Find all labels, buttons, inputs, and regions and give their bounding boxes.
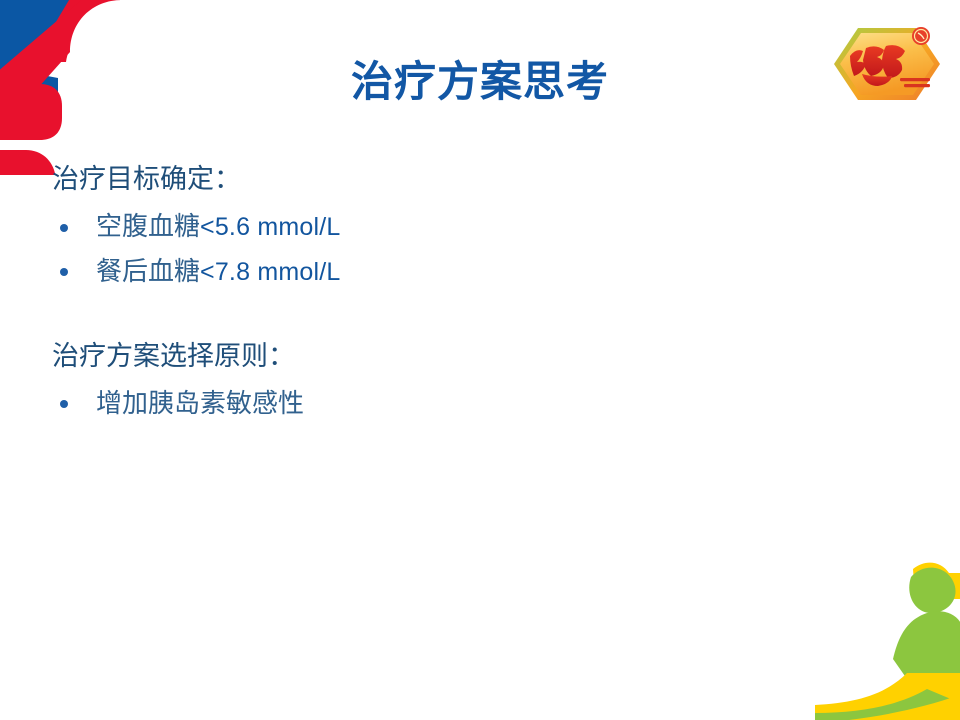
list-item-latin-text: <5.6 mmol/L	[200, 213, 340, 241]
bullet-dot-icon	[60, 400, 68, 408]
list-item: 餐后血糖<7.8 mmol/L	[52, 250, 752, 295]
bullet-dot-icon	[60, 224, 68, 232]
bullet-dot-icon	[60, 268, 68, 276]
section-treatment-goals: 治疗目标确定： 空腹血糖<5.6 mmol/L 餐后血糖<7.8 mmol/L	[52, 160, 752, 295]
section-heading: 治疗方案选择原则：	[52, 337, 752, 376]
list-item: 增加胰岛素敏感性	[52, 382, 752, 427]
list-item-cjk-text: 餐后血糖	[96, 257, 200, 287]
list-item-latin-text: <7.8 mmol/L	[200, 258, 340, 286]
section-spacer	[52, 295, 752, 337]
section-heading: 治疗目标确定：	[52, 160, 752, 199]
page-title: 治疗方案思考	[0, 59, 960, 105]
list-item: 空腹血糖<5.6 mmol/L	[52, 205, 752, 250]
bullet-list: 增加胰岛素敏感性	[52, 382, 752, 427]
list-item-cjk-text: 增加胰岛素敏感性	[96, 389, 304, 419]
bottom-right-corner-graphic	[815, 555, 960, 720]
section-treatment-principles: 治疗方案选择原则： 增加胰岛素敏感性	[52, 337, 752, 427]
bullet-list: 空腹血糖<5.6 mmol/L 餐后血糖<7.8 mmol/L	[52, 205, 752, 294]
presentation-slide: 治疗方案思考 治疗目标确定： 空腹血糖<5.6 mmol/L 餐后血糖<7.8 …	[0, 0, 960, 720]
slide-content: 治疗目标确定： 空腹血糖<5.6 mmol/L 餐后血糖<7.8 mmol/L …	[52, 160, 752, 426]
list-item-cjk-text: 空腹血糖	[96, 212, 200, 242]
